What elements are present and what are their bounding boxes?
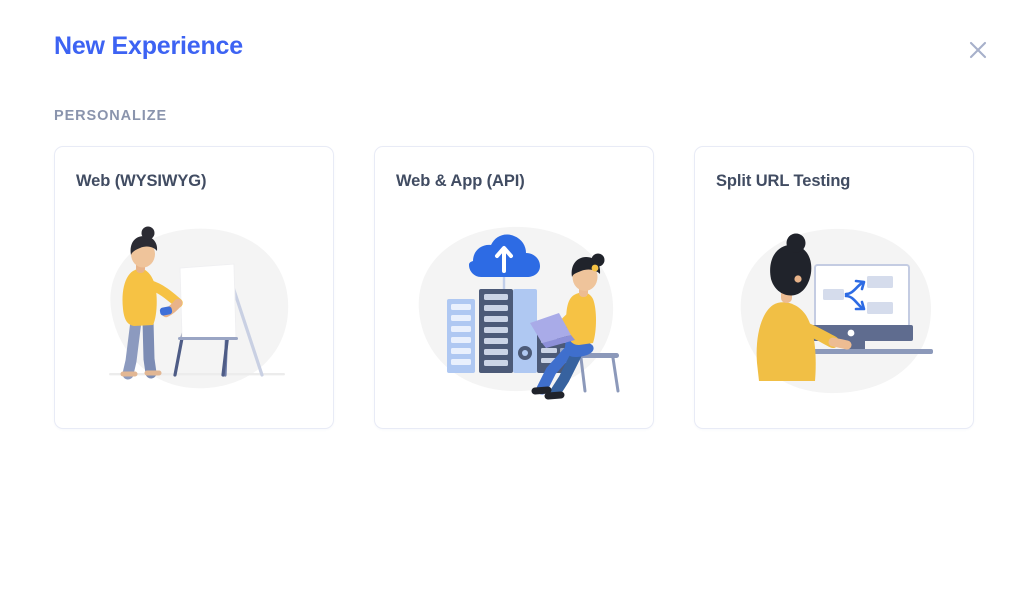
section-label-personalize: PERSONALIZE bbox=[54, 107, 167, 125]
card-title: Web (WYSIWYG) bbox=[76, 171, 206, 191]
card-split-url-testing[interactable]: Split URL Testing bbox=[694, 146, 974, 429]
card-title: Web & App (API) bbox=[396, 171, 525, 191]
servers-cloud-upload-developer-illustration bbox=[375, 205, 653, 420]
card-web-wysiwyg[interactable]: Web (WYSIWYG) bbox=[54, 146, 334, 429]
close-button[interactable] bbox=[961, 33, 995, 67]
woman-at-monitor-split-branch-illustration bbox=[695, 205, 973, 420]
page-title: New Experience bbox=[54, 31, 243, 61]
card-title: Split URL Testing bbox=[716, 171, 850, 191]
new-experience-modal: New Experience PERSONALIZE Web (WYSIWYG) bbox=[0, 0, 1028, 606]
woman-at-flipchart-illustration bbox=[55, 205, 333, 420]
card-web-app-api[interactable]: Web & App (API) bbox=[374, 146, 654, 429]
close-icon bbox=[966, 38, 990, 62]
experience-type-card-list: Web (WYSIWYG) bbox=[54, 146, 974, 429]
